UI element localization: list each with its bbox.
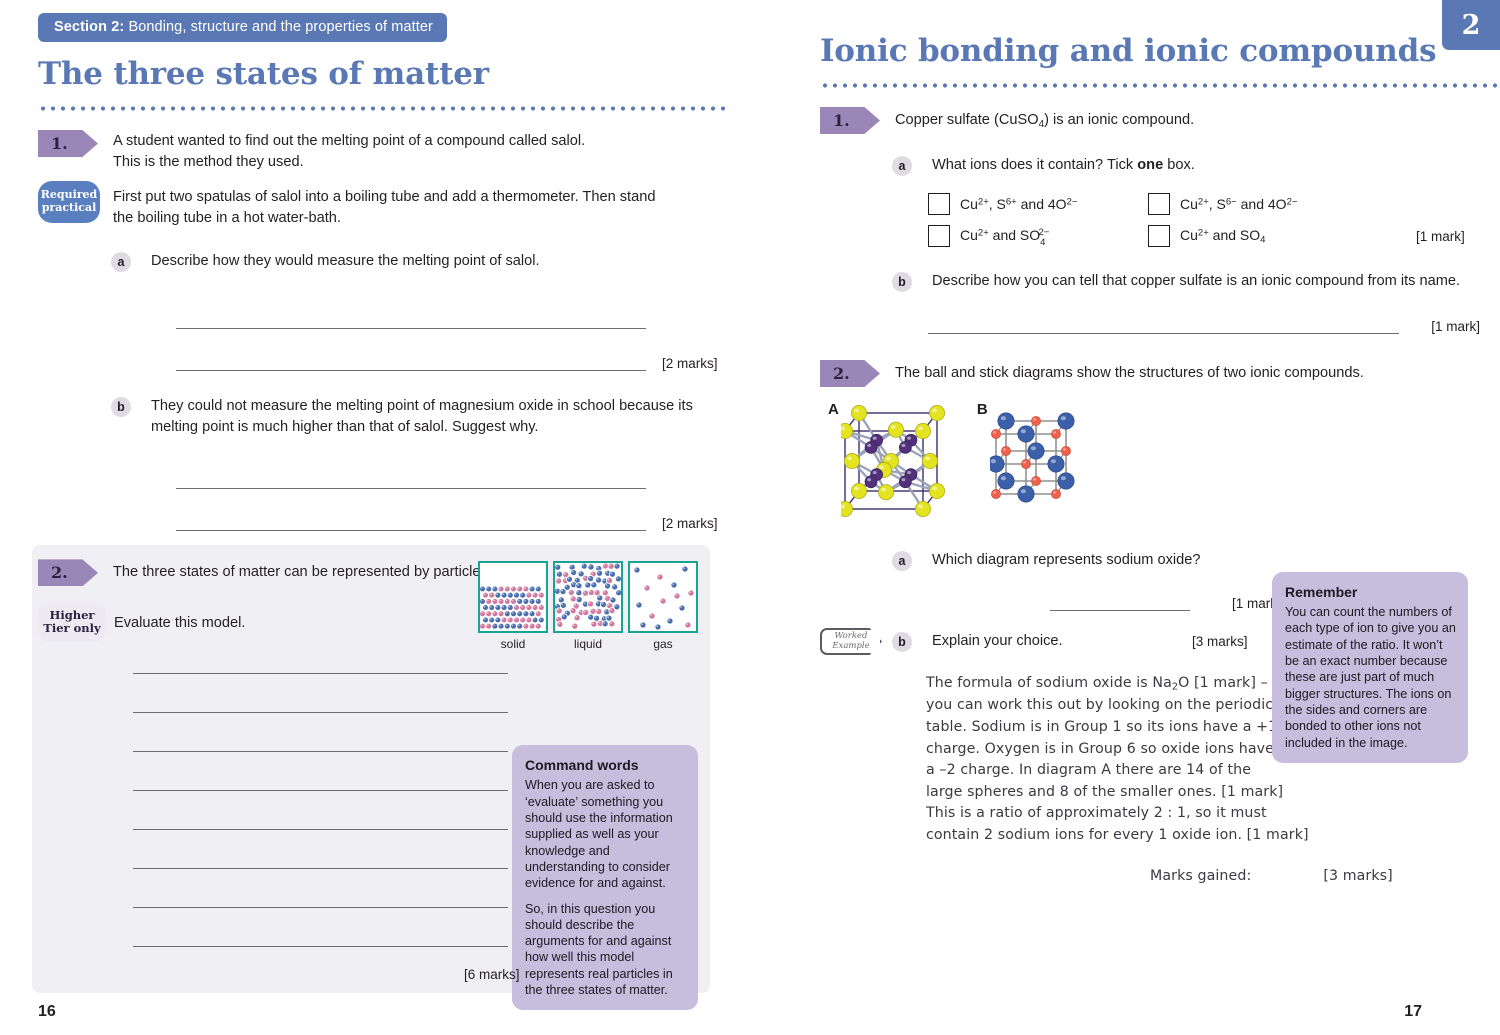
answer-line[interactable] [133, 752, 508, 791]
question-1a-text: Describe how they would measure the melt… [151, 251, 696, 272]
r1a-text-pre: What ions does it contain? Tick [932, 157, 1137, 173]
part-letter-1a: a [111, 252, 131, 272]
part-letter-r2a: a [892, 551, 912, 571]
required-practical-badge: Required practical [38, 181, 100, 223]
question-r1a-text: What ions does it contain? Tick one box. [932, 155, 1195, 176]
higher-tier-line2: Tier only [43, 622, 100, 636]
answer-line[interactable] [176, 457, 646, 489]
tick-option-3[interactable]: Cu2+ and SO42− [928, 225, 1148, 247]
question-1-stem-right: Copper sulfate (CuSO4) is an ionic compo… [895, 107, 1194, 132]
section-banner-label: Section 2: [54, 19, 124, 35]
required-practical-line2: practical [42, 202, 97, 215]
part-letter-r2b: b [892, 632, 912, 652]
question-number-flag: 1. [38, 130, 98, 157]
section-banner: Section 2: Bonding, structure and the pr… [38, 13, 447, 42]
answer-line[interactable] [176, 297, 646, 329]
checkbox-option-4[interactable] [1148, 225, 1170, 247]
page-title-right: Ionic bonding and ionic compounds [820, 33, 1480, 69]
worked-example-badge: Worked Example [820, 628, 882, 655]
page-number-left: 16 [38, 1003, 56, 1021]
particle-box-liquid [553, 561, 623, 633]
marks-1a: [2 marks] [662, 356, 718, 371]
answer-line[interactable] [1050, 593, 1190, 611]
marks-2: [6 marks] [464, 967, 520, 982]
r1a-text-post: box. [1163, 157, 1195, 173]
question-2-prompt: Evaluate this model. [114, 602, 245, 634]
question-2-number-flag-right: 2. [820, 360, 880, 387]
remember-text: You can count the numbers of each type o… [1285, 604, 1456, 751]
answer-lines-1a: [2 marks] [176, 297, 730, 371]
option-1-label: Cu2+, S6+ and 4O2− [960, 196, 1077, 212]
question-1-stem-line2: This is the method they used. [113, 152, 585, 173]
left-page: Section 2: Bonding, structure and the pr… [0, 0, 760, 1035]
diagram-a-svg [841, 399, 971, 524]
particle-label-liquid: liquid [553, 637, 623, 651]
higher-tier-badge: Higher Tier only [38, 602, 106, 642]
answer-line[interactable] [133, 674, 508, 713]
part-letter-r1a: a [892, 156, 912, 176]
answer-lines-1b: [2 marks] [176, 457, 730, 531]
checkbox-option-2[interactable] [1148, 193, 1170, 215]
solid-particles-svg [480, 563, 546, 631]
command-words-para1: When you are asked to ‘evaluate’ somethi… [525, 777, 686, 891]
answer-line[interactable] [176, 489, 646, 531]
question-1-stem-line1: A student wanted to find out the melting… [113, 131, 585, 152]
question-1-stem: A student wanted to find out the melting… [113, 130, 585, 172]
worked-answer-line: This is a ratio of approximately 2 : 1, … [926, 803, 1480, 825]
particle-box-solid [478, 561, 548, 633]
higher-tier-line1: Higher [49, 609, 94, 623]
marks-gained-value: [3 marks] [1323, 866, 1392, 888]
question-r2a-text: Which diagram represents sodium oxide? [932, 550, 1201, 571]
diagram-label-b: B [977, 401, 988, 524]
marks-r1b: [1 mark] [1431, 319, 1480, 334]
worked-answer-line: large spheres and 8 of the smaller ones.… [926, 782, 1480, 804]
stem-post: ) is an ionic compound. [1044, 112, 1194, 128]
marks-r1a: [1 mark] [1416, 229, 1465, 244]
tick-option-1[interactable]: Cu2+, S6+ and 4O2− [928, 193, 1148, 215]
page-number-right: 17 [1404, 1003, 1422, 1021]
page-title-left: The three states of matter [38, 56, 730, 92]
answer-line[interactable] [133, 713, 508, 752]
diagram-b-svg [990, 405, 1115, 515]
command-words-note: Command words When you are asked to ‘eva… [512, 745, 698, 1010]
dotted-divider-left [38, 106, 730, 111]
question-1-right: 1. Copper sulfate (CuSO4) is an ionic co… [820, 107, 1480, 334]
stem-pre: Copper sulfate (CuSO [895, 112, 1039, 128]
tick-options: Cu2+, S6+ and 4O2− Cu2+, S6− and 4O2− Cu… [928, 193, 1480, 247]
section-banner-text: Bonding, structure and the properties of… [128, 19, 433, 35]
right-page: 2 Ionic bonding and ionic compounds 1. C… [760, 0, 1500, 1035]
option-2-label: Cu2+, S6− and 4O2− [1180, 196, 1297, 212]
marks-r2b: [3 marks] [1192, 634, 1248, 649]
particle-box-gas [628, 561, 698, 633]
question-1-method: First put two spatulas of salol into a b… [113, 181, 678, 228]
ball-stick-diagrams: A B [828, 399, 1480, 524]
marks-gained-label: Marks gained: [1150, 866, 1251, 888]
answer-line[interactable] [176, 329, 646, 371]
answer-lines-r1b: [1 mark] [928, 314, 1480, 334]
dotted-divider-right [820, 83, 1500, 88]
question-2-panel: 2. The three states of matter can be rep… [32, 545, 710, 993]
particle-label-gas: gas [628, 637, 698, 651]
command-words-para2: So, in this question you should describe… [525, 901, 686, 999]
question-r1b-text: Describe how you can tell that copper su… [932, 271, 1460, 292]
answer-line[interactable] [133, 869, 508, 908]
answer-line[interactable] [133, 664, 508, 674]
command-words-title: Command words [525, 756, 686, 774]
gas-particles-svg [630, 563, 696, 631]
checkbox-option-1[interactable] [928, 193, 950, 215]
section-corner-tab: 2 [1442, 0, 1500, 50]
answer-line[interactable] [928, 314, 1399, 334]
r1a-text-bold: one [1137, 157, 1163, 173]
part-letter-r1b: b [892, 272, 912, 292]
answer-line[interactable] [133, 830, 508, 869]
tick-option-4[interactable]: Cu2+ and SO4 [1148, 225, 1368, 247]
question-1b-text: They could not measure the melting point… [151, 396, 699, 437]
checkbox-option-3[interactable] [928, 225, 950, 247]
option-4-label: Cu2+ and SO4 [1180, 227, 1265, 246]
question-number-flag-right: 1. [820, 107, 880, 134]
question-1-left: 1. A student wanted to find out the melt… [38, 130, 730, 531]
book-spread: Section 2: Bonding, structure and the pr… [0, 0, 1500, 1035]
liquid-particles-svg [555, 563, 621, 631]
question-2-number-flag: 2. [38, 559, 98, 586]
question-r2b-text: Explain your choice. [932, 631, 1192, 652]
question-2-stem-right: The ball and stick diagrams show the str… [895, 360, 1364, 384]
particle-diagrams: solid liquid [478, 561, 698, 651]
remember-note: Remember You can count the numbers of ea… [1272, 572, 1468, 763]
marks-1b: [2 marks] [662, 516, 718, 531]
answer-line[interactable] [133, 908, 508, 947]
tick-option-2[interactable]: Cu2+, S6− and 4O2− [1148, 193, 1368, 215]
part-letter-1b: b [111, 397, 131, 417]
answer-line[interactable] [133, 791, 508, 830]
worked-example-line2: Example [832, 642, 869, 652]
worked-answer-line: contain 2 sodium ions for every 1 oxide … [926, 825, 1480, 847]
particle-label-solid: solid [478, 637, 548, 651]
remember-title: Remember [1285, 583, 1456, 601]
worked-answer-line: a –2 charge. In diagram A there are 14 o… [926, 760, 1480, 782]
marks-gained-row: Marks gained: [3 marks] [1150, 866, 1480, 888]
option-3-label: Cu2+ and SO42− [960, 227, 1049, 246]
diagram-label-a: A [828, 401, 839, 524]
